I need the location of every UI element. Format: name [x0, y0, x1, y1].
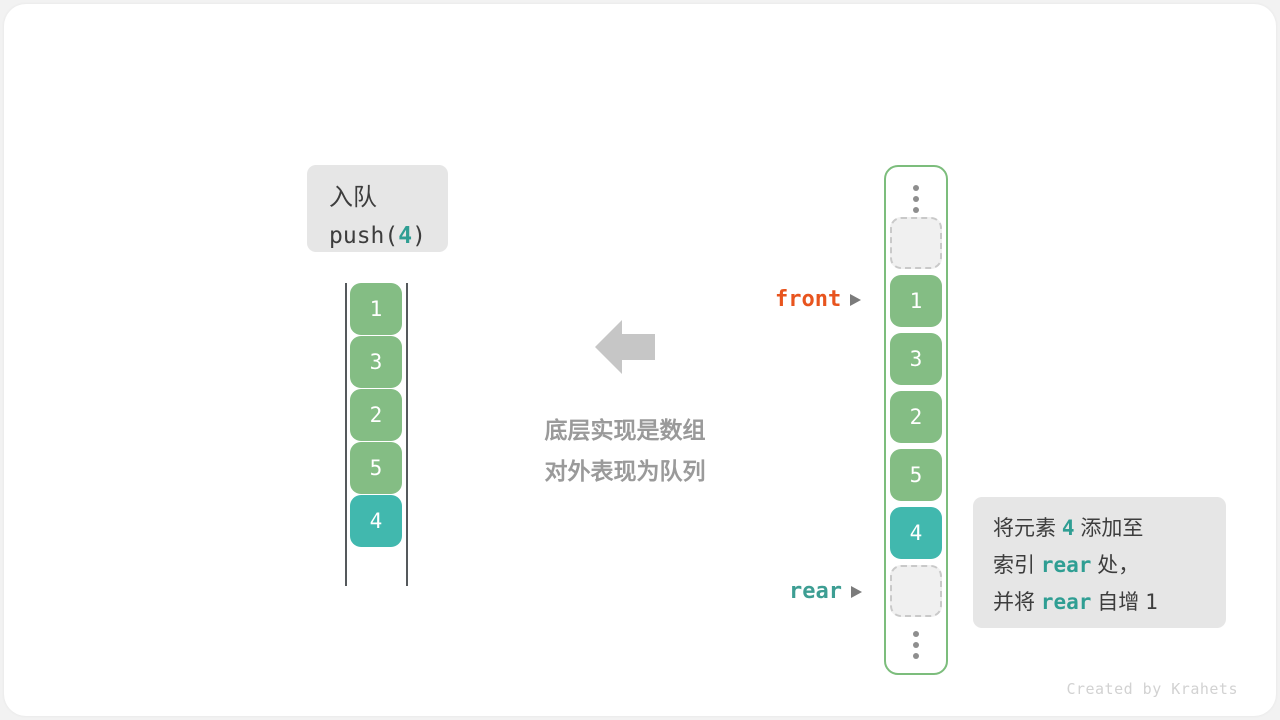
queue-cell-2: 2	[350, 389, 402, 441]
array-cell-1: 1	[890, 275, 942, 327]
array-top-ellipsis-icon	[886, 185, 946, 213]
queue-rail-left	[345, 283, 347, 586]
logical-queue-column: 1 3 2 5 4	[345, 283, 409, 586]
note-l3-a: 并将	[993, 591, 1041, 614]
array-cell-3: 2	[890, 391, 942, 443]
queue-cell-4: 4	[350, 495, 402, 547]
push-code-value: 4	[398, 223, 412, 249]
note-l1-a: 将元素	[993, 517, 1062, 540]
push-code-prefix: push(	[329, 223, 398, 249]
array-cell-6	[890, 565, 942, 617]
array-cell-0	[890, 217, 942, 269]
note-line-3: 并将 rear 自增 1	[993, 584, 1226, 621]
diagram-canvas: 入队 push(4) 1 3 2 5 4 底层实现是数组 对外表现为队列 fro…	[0, 0, 1280, 720]
rear-pointer-label: rear	[789, 579, 842, 604]
note-line-2: 索引 rear 处，	[993, 547, 1226, 584]
front-pointer: front	[775, 287, 861, 312]
note-l2-a: 索引	[993, 554, 1041, 577]
queue-cell-0: 1	[350, 283, 402, 335]
rear-pointer: rear	[789, 579, 862, 604]
center-explanation-line2: 对外表现为队列	[500, 451, 750, 492]
note-l3-word: rear	[1041, 590, 1092, 614]
array-bottom-ellipsis-icon	[886, 631, 946, 659]
rear-arrow-icon	[851, 586, 862, 598]
note-l1-num: 4	[1062, 516, 1075, 540]
center-explanation: 底层实现是数组 对外表现为队列	[500, 410, 750, 492]
center-explanation-line1: 底层实现是数组	[500, 410, 750, 451]
watermark: Created by Krahets	[1066, 680, 1238, 698]
note-line-1: 将元素 4 添加至	[993, 510, 1226, 547]
front-pointer-label: front	[775, 287, 841, 312]
push-caption-box: 入队 push(4)	[307, 165, 448, 252]
array-cell-2: 3	[890, 333, 942, 385]
front-arrow-icon	[850, 294, 861, 306]
note-l3-num: 1	[1145, 590, 1158, 614]
note-l2-b: 处，	[1091, 554, 1139, 577]
note-l2-word: rear	[1041, 553, 1092, 577]
operation-note-box: 将元素 4 添加至 索引 rear 处， 并将 rear 自增 1	[973, 497, 1226, 628]
note-l3-b: 自增	[1091, 591, 1145, 614]
left-arrow-icon	[595, 318, 655, 376]
push-caption-title: 入队	[329, 179, 448, 217]
array-cell-4: 5	[890, 449, 942, 501]
queue-rail-right	[406, 283, 408, 586]
push-code-suffix: )	[412, 223, 426, 249]
queue-cell-3: 5	[350, 442, 402, 494]
note-l1-b: 添加至	[1075, 517, 1144, 540]
underlying-array-column: 1 3 2 5 4	[884, 165, 948, 675]
push-caption-code: push(4)	[329, 217, 448, 255]
array-cell-5: 4	[890, 507, 942, 559]
queue-cell-1: 3	[350, 336, 402, 388]
